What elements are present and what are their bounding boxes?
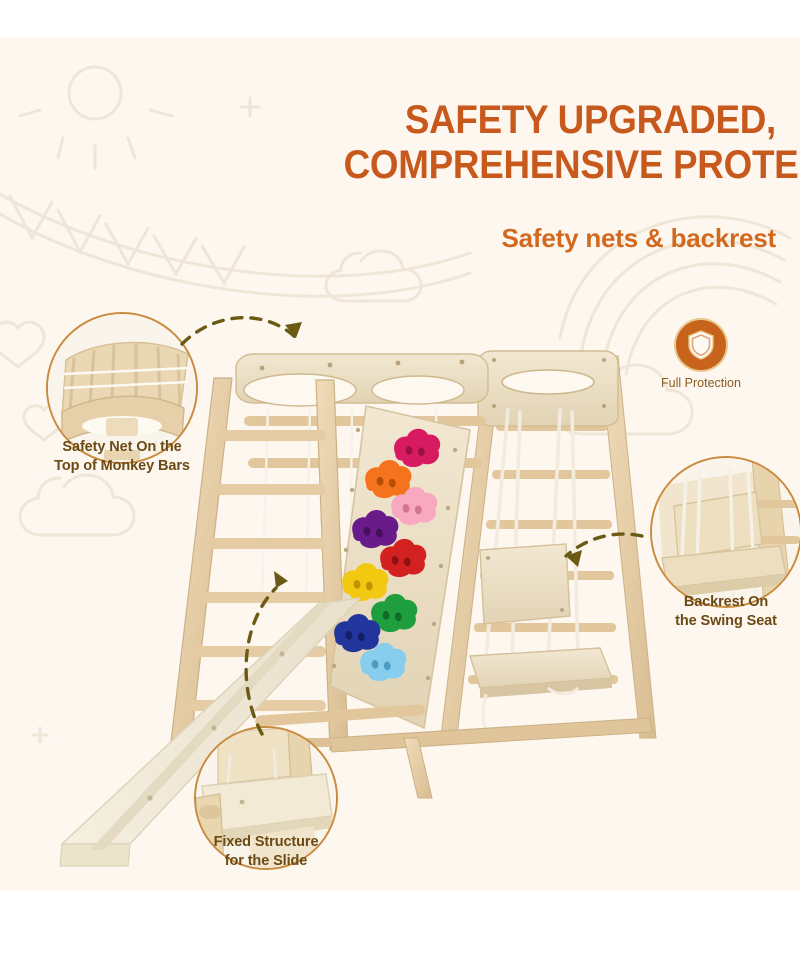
inset-backrest-image — [652, 458, 800, 606]
caption-safety-net: Safety Net On the Top of Monkey Bars — [32, 438, 212, 475]
caption-safety-net-line-1: Safety Net On the — [32, 438, 212, 457]
inset-backrest[interactable] — [652, 458, 800, 606]
caption-backrest: Backrest On the Swing Seat — [638, 593, 800, 630]
caption-safety-net-line-2: Top of Monkey Bars — [32, 457, 212, 476]
banner-panel: SAFETY UPGRADED, COMPREHENSIVE PROTECTIO… — [0, 38, 800, 890]
caption-fixed-slide: Fixed Structure for the Slide — [175, 833, 357, 870]
product-feature-banner: SAFETY UPGRADED, COMPREHENSIVE PROTECTIO… — [0, 0, 800, 977]
swing-top-header — [478, 351, 618, 426]
caption-backrest-line-1: Backrest On — [638, 593, 800, 612]
swing-backrest — [480, 544, 570, 624]
caption-fixed-slide-line-2: for the Slide — [175, 852, 357, 871]
swing-with-backrest — [470, 410, 612, 730]
caption-backrest-line-2: the Swing Seat — [638, 612, 800, 631]
caption-fixed-slide-line-1: Fixed Structure — [175, 833, 357, 852]
